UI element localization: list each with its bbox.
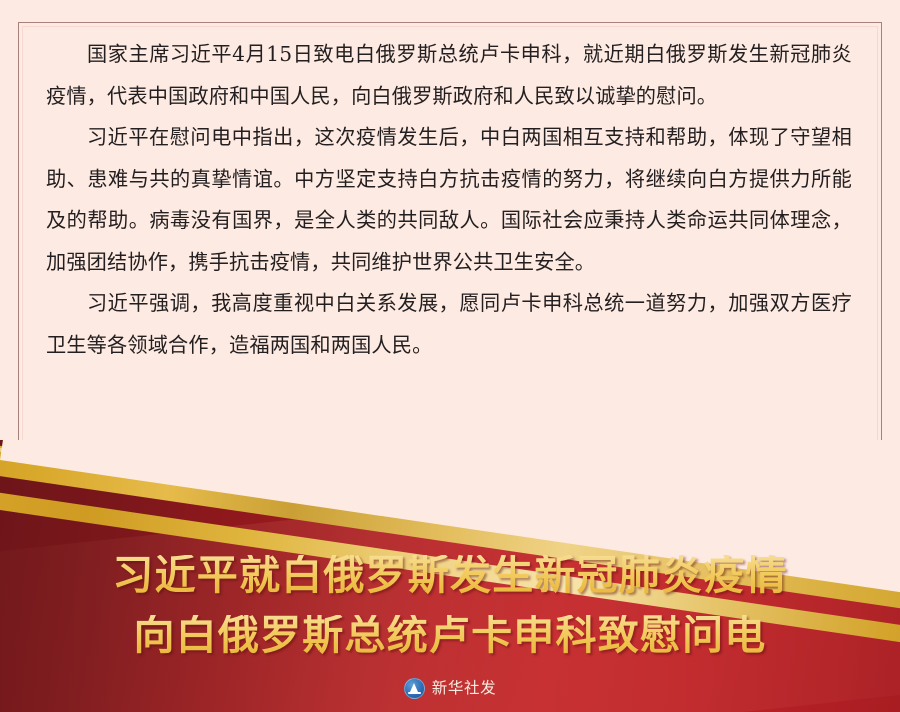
- credit-row: 新华社发: [0, 678, 900, 699]
- xinhua-emblem-icon: [404, 678, 425, 699]
- document-area: 国家主席习近平4月15日致电白俄罗斯总统卢卡申科，就近期白俄罗斯发生新冠肺炎疫情…: [0, 0, 900, 470]
- news-graphic-page: 国家主席习近平4月15日致电白俄罗斯总统卢卡申科，就近期白俄罗斯发生新冠肺炎疫情…: [0, 0, 900, 712]
- headline-line-2: 向白俄罗斯总统卢卡申科致慰问电: [0, 615, 900, 656]
- document-body-text: 国家主席习近平4月15日致电白俄罗斯总统卢卡申科，就近期白俄罗斯发生新冠肺炎疫情…: [46, 34, 852, 366]
- headline-line-1: 习近平就白俄罗斯发生新冠肺炎疫情: [0, 555, 900, 596]
- credit-label: 新华社发: [432, 681, 496, 697]
- headline-banner: 习近平就白俄罗斯发生新冠肺炎疫情 向白俄罗斯总统卢卡申科致慰问电 新华社发: [0, 440, 900, 712]
- paragraph-2: 习近平在慰问电中指出，这次疫情发生后，中白两国相互支持和帮助，体现了守望相助、患…: [46, 117, 852, 283]
- paragraph-1: 国家主席习近平4月15日致电白俄罗斯总统卢卡申科，就近期白俄罗斯发生新冠肺炎疫情…: [46, 34, 852, 117]
- paragraph-3: 习近平强调，我高度重视中白关系发展，愿同卢卡申科总统一道努力，加强双方医疗卫生等…: [46, 283, 852, 366]
